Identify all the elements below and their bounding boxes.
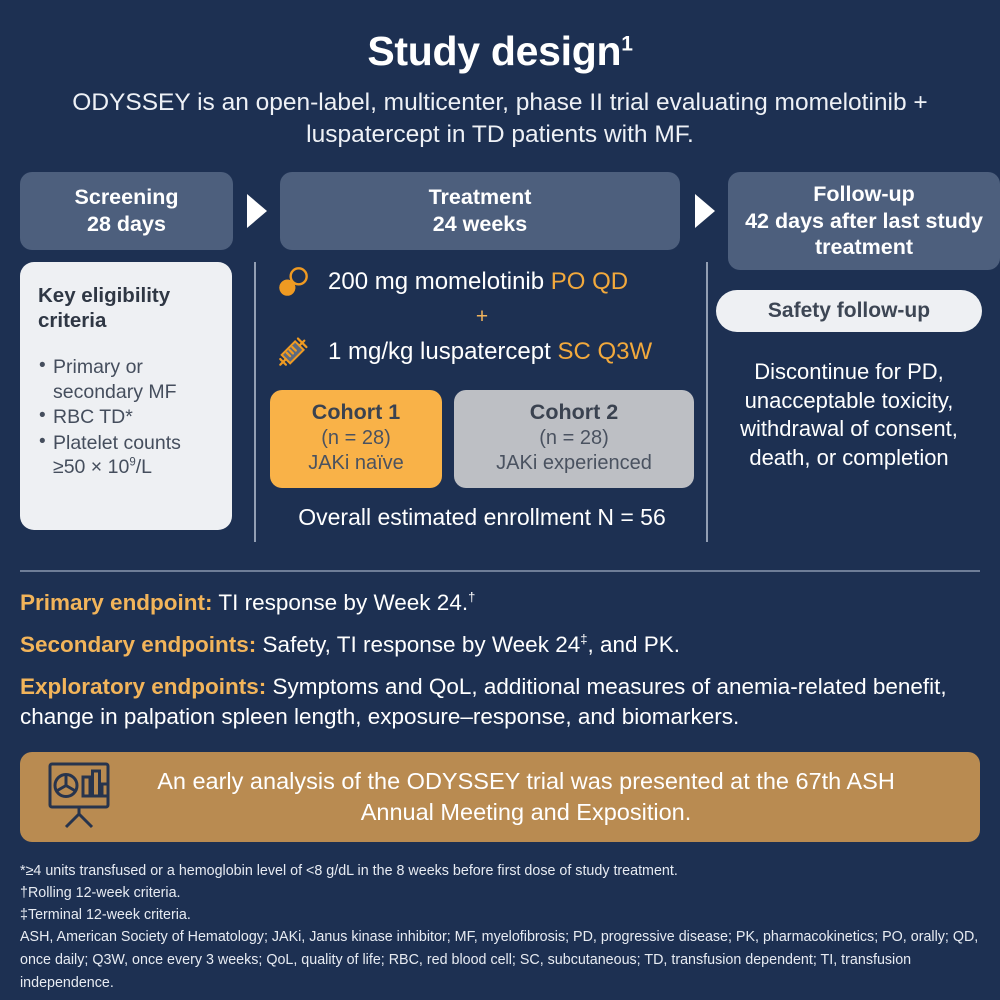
list-item: Platelet counts ≥50 × 109/L (38, 431, 214, 480)
cohort-row: Cohort 1 (n = 28) JAKi naïve Cohort 2 (n… (270, 390, 694, 488)
cohort-1-description: JAKi naïve (278, 451, 434, 476)
drug-line-luspatercept: 1 mg/kg luspatercept SC Q3W (270, 328, 694, 376)
page-subtitle: ODYSSEY is an open-label, multicenter, p… (0, 87, 1000, 152)
page-title: Study design1 (0, 0, 1000, 74)
pill-capsule-icon (270, 259, 316, 305)
drug-route: SC Q3W (557, 338, 652, 365)
safety-followup-pill: Safety follow-up (716, 290, 982, 332)
key-eligibility-card: Key eligibility criteria Primary or seco… (20, 262, 232, 530)
endpoint-primary-sup: † (468, 590, 475, 605)
arrow-right-icon-1 (247, 194, 267, 228)
endpoints-section: Primary endpoint: TI response by Week 24… (20, 588, 980, 744)
list-item: RBC TD* (38, 405, 214, 430)
eligibility-list: Primary or secondary MF RBC TD* Platelet… (38, 355, 214, 480)
phase-treatment-name: Treatment (429, 185, 532, 209)
footnote-double-dagger: ‡Terminal 12-week criteria. (20, 904, 980, 926)
arrow-right-icon-2 (695, 194, 715, 228)
cohort-box-2: Cohort 2 (n = 28) JAKi experienced (454, 390, 694, 488)
syringe-icon (270, 329, 316, 375)
phase-row: Screening 28 days Treatment 24 weeks Fol… (20, 172, 980, 250)
abbreviations-block: ASH, American Society of Hematology; JAK… (20, 926, 980, 995)
cohort-2-name: Cohort 2 (462, 400, 686, 426)
drug-route: PO QD (551, 268, 628, 295)
banner-text: An early analysis of the ODYSSEY trial w… (138, 766, 954, 827)
cohort-1-n: (n = 28) (278, 426, 434, 451)
endpoint-secondary: Secondary endpoints: Safety, TI response… (20, 630, 980, 660)
treatment-column: 200 mg momelotinib PO QD + (270, 258, 694, 531)
phase-followup-name: Follow-up (813, 182, 915, 206)
cohort-2-description: JAKi experienced (462, 451, 686, 476)
footnote-asterisk: *≥4 units transfused or a hemoglobin lev… (20, 860, 980, 882)
endpoint-exploratory: Exploratory endpoints: Symptoms and QoL,… (20, 672, 980, 732)
cohort-box-1: Cohort 1 (n = 28) JAKi naïve (270, 390, 442, 488)
eligibility-item-text: Platelet counts ≥50 × 10 (53, 432, 181, 479)
drug-text-luspatercept: 1 mg/kg luspatercept SC Q3W (328, 338, 652, 366)
drug-dose: 1 mg/kg luspatercept (328, 338, 557, 365)
page-title-superscript: 1 (621, 32, 632, 55)
eligibility-item-tail: /L (136, 456, 152, 478)
list-item: Primary or secondary MF (38, 355, 214, 404)
endpoint-secondary-label: Secondary endpoints: (20, 632, 256, 657)
phase-screening-duration: 28 days (87, 212, 166, 236)
endpoint-secondary-text: Safety, TI response by Week 24 (256, 632, 580, 657)
endpoint-exploratory-label: Exploratory endpoints: (20, 674, 266, 699)
discontinuation-criteria: Discontinue for PD, unacceptable toxicit… (716, 358, 982, 472)
eligibility-title: Key eligibility criteria (38, 284, 214, 333)
phase-box-followup: Follow-up 42 days after last study treat… (728, 172, 1000, 270)
drug-line-momelotinib: 200 mg momelotinib PO QD (270, 258, 694, 306)
enrollment-total: Overall estimated enrollment N = 56 (270, 504, 694, 531)
drug-combination-separator: + (270, 306, 694, 328)
study-design-slide: Study design1 ODYSSEY is an open-label, … (0, 0, 1000, 1000)
footnote-dagger: †Rolling 12-week criteria. (20, 882, 980, 904)
phase-treatment-duration: 24 weeks (433, 212, 527, 236)
drug-dose: 200 mg momelotinib (328, 268, 551, 295)
followup-column: Safety follow-up Discontinue for PD, una… (716, 290, 982, 472)
phase-box-treatment: Treatment 24 weeks (280, 172, 680, 250)
footnotes-section: *≥4 units transfused or a hemoglobin lev… (20, 860, 980, 926)
eligibility-item-text: RBC TD* (53, 406, 133, 428)
presentation-chart-icon (46, 761, 112, 834)
cohort-2-n: (n = 28) (462, 426, 686, 451)
endpoint-primary-text: TI response by Week 24. (213, 590, 469, 615)
endpoint-secondary-tail: , and PK. (587, 632, 680, 657)
ash-presentation-banner: An early analysis of the ODYSSEY trial w… (20, 752, 980, 842)
phase-screening-name: Screening (75, 185, 179, 209)
endpoint-primary-label: Primary endpoint: (20, 590, 213, 615)
page-title-text: Study design (367, 28, 621, 74)
section-divider (20, 570, 980, 572)
drug-text-momelotinib: 200 mg momelotinib PO QD (328, 268, 628, 296)
phase-box-screening: Screening 28 days (20, 172, 233, 250)
column-divider-right (706, 262, 708, 542)
eligibility-item-text: Primary or secondary MF (53, 356, 177, 403)
endpoint-primary: Primary endpoint: TI response by Week 24… (20, 588, 980, 618)
phase-followup-duration: 42 days after last study treatment (745, 209, 983, 260)
column-divider-left (254, 262, 256, 542)
cohort-1-name: Cohort 1 (278, 400, 434, 426)
